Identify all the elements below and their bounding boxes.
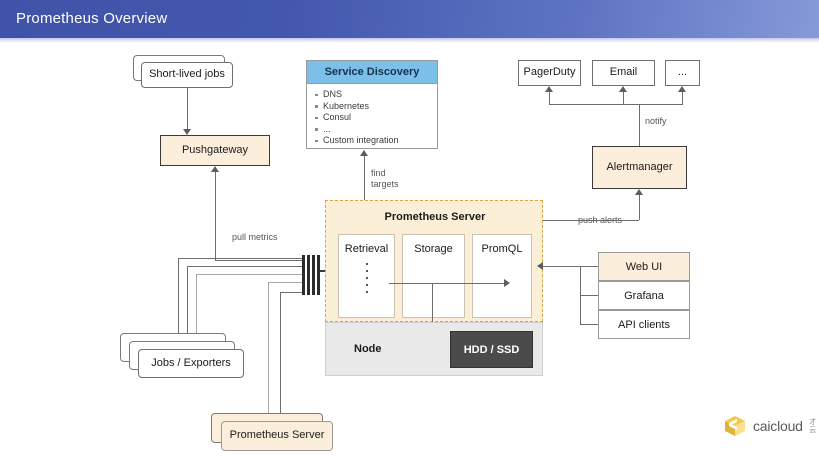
edge-grafana-h (580, 295, 598, 296)
edge-notify-trunk (639, 104, 640, 146)
bus-bar-3 (312, 255, 315, 295)
grafana-label: Grafana (624, 290, 664, 302)
edge-clients-to-promql (543, 266, 580, 267)
edge-scrape3-h (196, 274, 302, 275)
alertmanager-box[interactable]: Alertmanager (592, 146, 687, 189)
pull-metrics-label: pull metrics (232, 232, 278, 243)
bus-bar-2 (307, 255, 310, 295)
edge-notify-ellipsis-arrow (678, 86, 686, 92)
edge-webui-h (580, 266, 598, 267)
pushgateway-box[interactable]: Pushgateway (160, 135, 270, 166)
grafana-box[interactable]: Grafana (598, 281, 690, 310)
edge-fed2-h (280, 292, 302, 293)
edge-scrape1-v (178, 258, 179, 338)
edge-retrieval-to-promql (389, 283, 506, 284)
caicloud-logo-cn: 才云 (808, 418, 816, 434)
edge-notify-ellipsis-v (682, 92, 683, 104)
storage-box[interactable]: Storage (402, 234, 465, 318)
header-shadow (0, 38, 819, 43)
bus-bar-1 (302, 255, 305, 295)
pushgateway-label: Pushgateway (182, 144, 248, 158)
service-discovery-item: Consul (323, 112, 437, 124)
email-label: Email (610, 66, 638, 80)
edge-scrape1-h (178, 258, 302, 259)
prometheus-server-title: Prometheus Server (326, 211, 544, 223)
push-alerts-label: push alerts (578, 215, 622, 226)
caicloud-logo: caicloud 才云 (722, 414, 816, 438)
retrieval-label: Retrieval (339, 243, 394, 255)
jobs-exporters-label: Jobs / Exporters (151, 357, 230, 371)
service-discovery-box[interactable]: Service Discovery DNS Kubernetes Consul … (306, 60, 438, 149)
web-ui-label: Web UI (626, 261, 662, 273)
caicloud-mark-icon (722, 414, 748, 438)
edge-notify-email-arrow (619, 86, 627, 92)
email-box[interactable]: Email (592, 60, 655, 86)
notify-label: notify (645, 116, 667, 127)
service-discovery-item: Custom integration (323, 135, 437, 147)
retrieval-dots (339, 263, 394, 293)
short-lived-jobs-box[interactable]: Short-lived jobs (141, 62, 233, 88)
web-ui-box[interactable]: Web UI (598, 252, 690, 281)
page-title: Prometheus Overview (16, 10, 167, 27)
alertmanager-label: Alertmanager (606, 161, 672, 175)
api-clients-label: API clients (618, 319, 670, 331)
edge-pull-metrics-arrow (211, 166, 219, 172)
edge-notify-email-v (623, 92, 624, 104)
api-clients-box[interactable]: API clients (598, 310, 690, 339)
slide-header: Prometheus Overview (0, 0, 819, 38)
caicloud-logo-text: caicloud (753, 418, 803, 434)
short-lived-jobs-label: Short-lived jobs (149, 68, 225, 82)
edge-push-alerts-v (639, 195, 640, 220)
prometheus-server-bottom-label: Prometheus Server (230, 429, 325, 443)
edge-apiclients-h (580, 324, 598, 325)
service-discovery-list: DNS Kubernetes Consul ... Custom integra… (307, 84, 437, 147)
edge-notify-pagerduty-v (549, 92, 550, 104)
slide-canvas: Prometheus Overview Short-lived jobs Pus… (0, 0, 819, 456)
edge-clients-to-promql-arrow (537, 262, 543, 270)
edge-push-alerts-arrow (635, 189, 643, 195)
ellipsis-box[interactable]: ... (665, 60, 700, 86)
ellipsis-label: ... (678, 66, 687, 80)
edge-fed1-h (268, 282, 302, 283)
edge-jobs-to-pushgateway (187, 88, 188, 129)
hdd-ssd-box[interactable]: HDD / SSD (450, 331, 533, 368)
retrieval-box[interactable]: Retrieval (338, 234, 395, 318)
edge-notify-bus (549, 104, 683, 105)
find-targets-label: find targets (371, 168, 399, 190)
service-discovery-item: DNS (323, 89, 437, 101)
node-label: Node (354, 343, 382, 355)
edge-find-targets-arrow (360, 150, 368, 156)
hdd-ssd-label: HDD / SSD (464, 344, 520, 356)
edge-notify-pagerduty-arrow (545, 86, 553, 92)
edge-fed2-v (280, 292, 281, 433)
edge-clients-trunk (580, 266, 581, 324)
edge-pull-metrics-horz (215, 260, 305, 261)
promql-box[interactable]: PromQL (472, 234, 532, 318)
edge-retrieval-to-promql-arrow (504, 279, 510, 287)
service-discovery-item: ... (323, 124, 437, 136)
edge-fed1-v (268, 282, 269, 423)
pagerduty-label: PagerDuty (524, 66, 576, 80)
promql-label: PromQL (473, 243, 531, 255)
jobs-exporters-box[interactable]: Jobs / Exporters (138, 349, 244, 378)
edge-pull-metrics-vert (215, 172, 216, 260)
pagerduty-box[interactable]: PagerDuty (518, 60, 581, 86)
bus-bar-4 (317, 255, 320, 295)
edge-scrape2-h (187, 266, 302, 267)
service-discovery-item: Kubernetes (323, 101, 437, 113)
prometheus-server-bottom-box[interactable]: Prometheus Server (221, 421, 333, 451)
service-discovery-title: Service Discovery (307, 61, 437, 84)
storage-label: Storage (403, 243, 464, 255)
